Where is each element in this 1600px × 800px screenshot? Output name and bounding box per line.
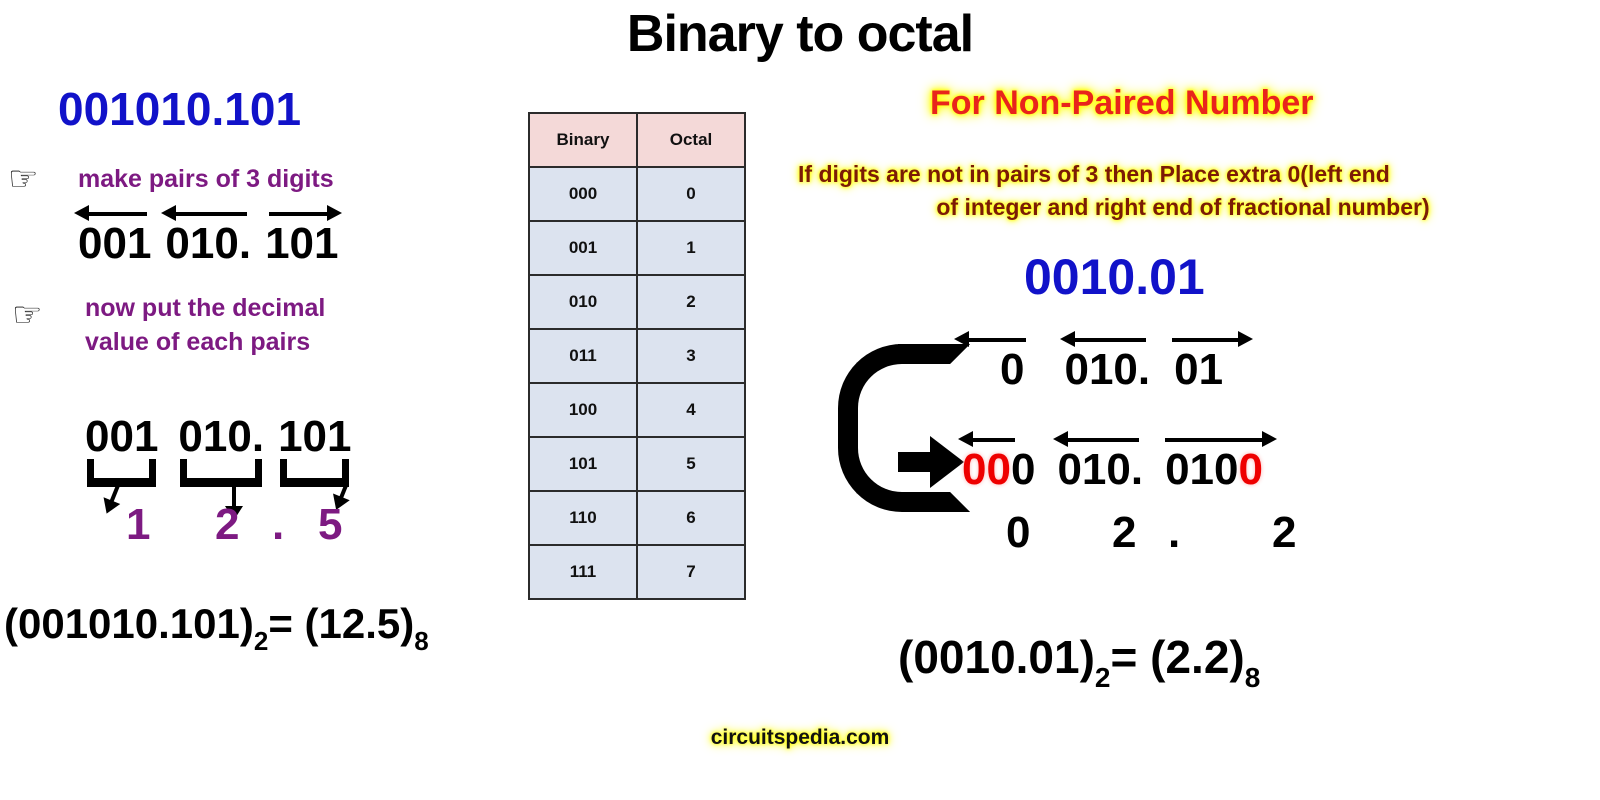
right-note: If digits are not in pairs of 3 then Pla… bbox=[798, 158, 1568, 225]
group-1-digits: 001 bbox=[78, 222, 151, 266]
right-r1-group-1-digits: 0 bbox=[1000, 348, 1024, 392]
over-arrow-left-1 bbox=[78, 205, 151, 219]
right-r1-group-2-digits: 010. bbox=[1064, 348, 1150, 392]
cell-binary: 000 bbox=[529, 167, 637, 221]
left-note-2-line-2: value of each pairs bbox=[85, 326, 325, 360]
left-equation-rhs-sub: 8 bbox=[414, 626, 428, 656]
table-header-row: Binary Octal bbox=[529, 113, 745, 167]
right-r2-group-1-black: 0 bbox=[1011, 445, 1035, 494]
hand-glyph-1: ☞ bbox=[8, 160, 38, 198]
left-input-binary: 001010.101 bbox=[58, 82, 301, 136]
over-arrow-right-r2-3 bbox=[1161, 431, 1273, 445]
right-input-binary: 0010.01 bbox=[1024, 248, 1205, 306]
right-result-1: 0 bbox=[1006, 508, 1030, 558]
left-note-2-line-1: now put the decimal bbox=[85, 292, 325, 326]
over-arrow-right-r1-3 bbox=[1168, 331, 1249, 345]
cell-octal: 4 bbox=[637, 383, 745, 437]
group2-2: 010. bbox=[178, 415, 264, 459]
table-row: 0000 bbox=[529, 167, 745, 221]
left-result-2: 2 bbox=[215, 500, 239, 550]
table-row: 1015 bbox=[529, 437, 745, 491]
hand-glyph-2: ☞ bbox=[12, 296, 42, 334]
group-2-digits: 010. bbox=[165, 222, 251, 266]
right-grouped-row-2: 000 010. 0100 bbox=[962, 448, 1277, 492]
right-r1-group-2: 010. bbox=[1064, 348, 1150, 392]
group2-2-digits: 010. bbox=[178, 415, 264, 459]
table-row: 1004 bbox=[529, 383, 745, 437]
right-result-2: 2 bbox=[1112, 508, 1136, 558]
left-equation-lhs: (001010.101) bbox=[4, 600, 254, 647]
left-grouped-row-2: 001 010. 101 bbox=[85, 415, 365, 459]
cell-binary: 100 bbox=[529, 383, 637, 437]
group-3-digits: 101 bbox=[265, 222, 338, 266]
table-row: 1106 bbox=[529, 491, 745, 545]
over-arrow-left-r2-2 bbox=[1057, 431, 1143, 445]
group-3: 101 bbox=[265, 222, 338, 266]
over-arrow-left-r1-1 bbox=[958, 331, 1030, 345]
underbrace-2 bbox=[180, 459, 262, 487]
left-result-3: 5 bbox=[318, 500, 342, 550]
left-equation-eq: = (12.5) bbox=[268, 600, 414, 647]
curved-arrow-icon bbox=[838, 336, 948, 496]
cell-octal: 1 bbox=[637, 221, 745, 275]
pointing-hand-icon-1: ☞ bbox=[8, 162, 38, 196]
table-header-binary: Binary bbox=[529, 113, 637, 167]
underbrace-1 bbox=[87, 459, 156, 487]
right-r2-group-2: 010. bbox=[1057, 448, 1143, 492]
cell-octal: 6 bbox=[637, 491, 745, 545]
cell-octal: 0 bbox=[637, 167, 745, 221]
page-title: Binary to octal bbox=[0, 4, 1600, 64]
right-result-dot: . bbox=[1168, 508, 1180, 558]
right-equation: (0010.01)2= (2.2)8 bbox=[898, 630, 1260, 684]
right-note-line-1: If digits are not in pairs of 3 then Pla… bbox=[798, 158, 1568, 191]
left-equation-lhs-sub: 2 bbox=[254, 626, 268, 656]
left-result-dot: . bbox=[272, 500, 284, 550]
cell-octal: 2 bbox=[637, 275, 745, 329]
right-r2-group-1-digits: 000 bbox=[962, 448, 1035, 492]
cell-octal: 7 bbox=[637, 545, 745, 599]
group2-3: 101 bbox=[278, 415, 351, 459]
cell-binary: 011 bbox=[529, 329, 637, 383]
right-equation-rhs-sub: 8 bbox=[1245, 662, 1261, 693]
table-header-octal: Octal bbox=[637, 113, 745, 167]
over-arrow-left-2 bbox=[165, 205, 251, 219]
group2-1: 001 bbox=[85, 415, 158, 459]
table-row: 1117 bbox=[529, 545, 745, 599]
left-equation: (001010.101)2= (12.5)8 bbox=[4, 600, 429, 648]
cell-octal: 5 bbox=[637, 437, 745, 491]
right-r2-group-2-digits: 010. bbox=[1057, 448, 1143, 492]
right-note-line-2: of integer and right end of fractional n… bbox=[798, 191, 1568, 224]
right-r2-group-3-digits: 0100 bbox=[1165, 448, 1263, 492]
right-equation-lhs-sub: 2 bbox=[1095, 662, 1111, 693]
right-r2-group-1: 000 bbox=[962, 448, 1035, 492]
over-arrow-left-r1-2 bbox=[1064, 331, 1150, 345]
site-footer: circuitspedia.com bbox=[0, 726, 1600, 750]
table-row: 0113 bbox=[529, 329, 745, 383]
right-r1-group-1: 0 bbox=[1000, 348, 1024, 392]
over-arrow-left-r2-1 bbox=[962, 431, 1019, 445]
binary-octal-lookup-table: Binary Octal 0000 0011 0102 0113 1004 10… bbox=[528, 112, 746, 600]
cell-binary: 001 bbox=[529, 221, 637, 275]
right-r2-pad-zero-right: 0 bbox=[1239, 445, 1263, 494]
right-result-3: 2 bbox=[1272, 508, 1296, 558]
table-row: 0102 bbox=[529, 275, 745, 329]
cell-binary: 110 bbox=[529, 491, 637, 545]
group2-1-digits: 001 bbox=[85, 415, 158, 459]
right-heading: For Non-Paired Number bbox=[930, 84, 1313, 123]
right-equation-eq: = (2.2) bbox=[1111, 631, 1245, 683]
cell-binary: 111 bbox=[529, 545, 637, 599]
left-note-1: make pairs of 3 digits bbox=[78, 163, 334, 197]
right-r1-group-3-digits: 01 bbox=[1174, 348, 1223, 392]
right-equation-lhs: (0010.01) bbox=[898, 631, 1095, 683]
right-r2-group-3: 0100 bbox=[1165, 448, 1263, 492]
cell-binary: 101 bbox=[529, 437, 637, 491]
cell-octal: 3 bbox=[637, 329, 745, 383]
group-2: 010. bbox=[165, 222, 251, 266]
over-arrow-right-3 bbox=[265, 205, 338, 219]
right-grouped-row-1: 0 010. 01 bbox=[1000, 348, 1237, 392]
cell-binary: 010 bbox=[529, 275, 637, 329]
left-result-1: 1 bbox=[126, 500, 150, 550]
right-r1-group-3: 01 bbox=[1174, 348, 1223, 392]
group-1: 001 bbox=[78, 222, 151, 266]
group2-3-digits: 101 bbox=[278, 415, 351, 459]
right-r2-pad-zeros-left: 00 bbox=[962, 445, 1011, 494]
left-note-2: now put the decimal value of each pairs bbox=[85, 292, 325, 360]
left-grouped-row-1: 001 010. 101 bbox=[78, 222, 352, 266]
table-row: 0011 bbox=[529, 221, 745, 275]
underbrace-3 bbox=[280, 459, 349, 487]
right-r2-group-3-black: 010 bbox=[1165, 445, 1238, 494]
pointing-hand-icon-2: ☞ bbox=[12, 298, 42, 332]
